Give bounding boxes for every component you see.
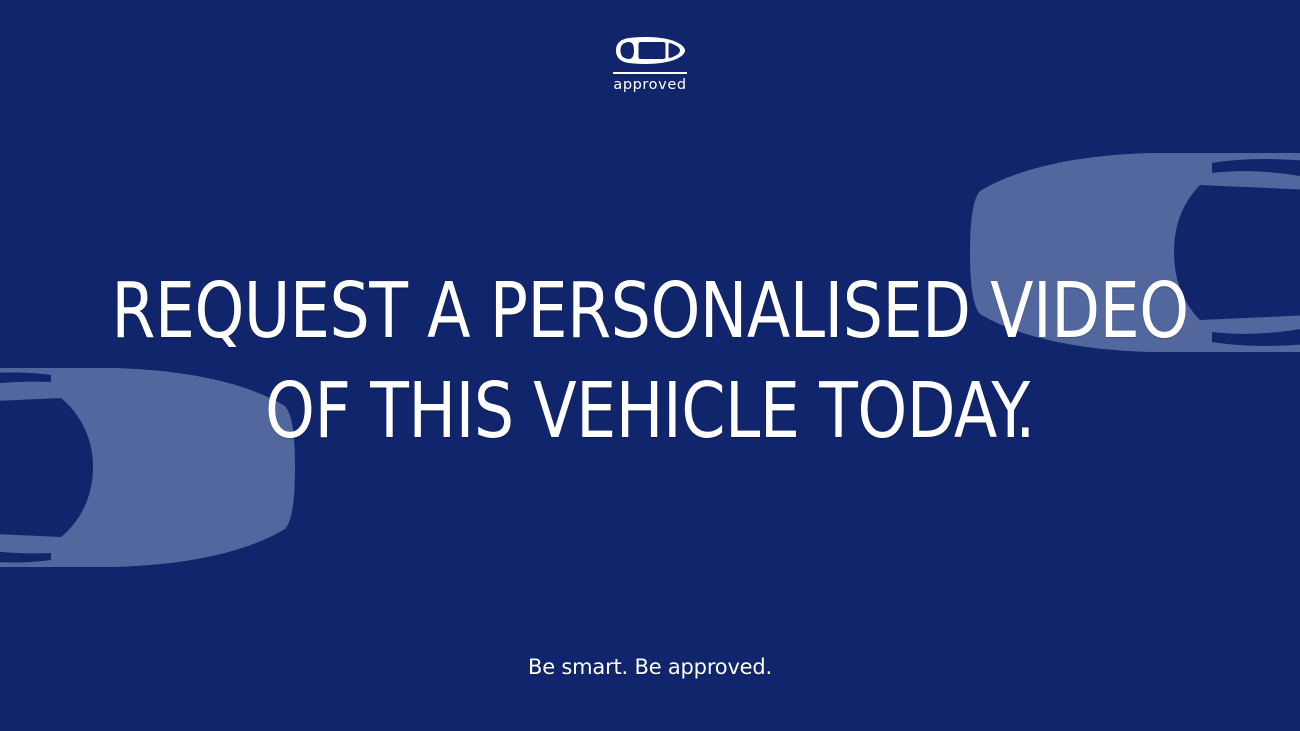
page-title: REQUEST A PERSONALISED VIDEO OF THIS VEH… xyxy=(0,268,1300,456)
car-top-view-icon xyxy=(615,36,685,65)
logo-divider xyxy=(613,72,687,74)
headline-line-2: OF THIS VEHICLE TODAY. xyxy=(55,368,1245,456)
brand-logo: approved xyxy=(0,36,1300,93)
headline-line-1: REQUEST A PERSONALISED VIDEO xyxy=(55,268,1245,356)
tagline: Be smart. Be approved. xyxy=(0,655,1300,679)
brand-word: approved xyxy=(613,78,686,94)
promo-banner: approved REQUEST A PERSONALISED VIDEO OF… xyxy=(0,0,1300,731)
